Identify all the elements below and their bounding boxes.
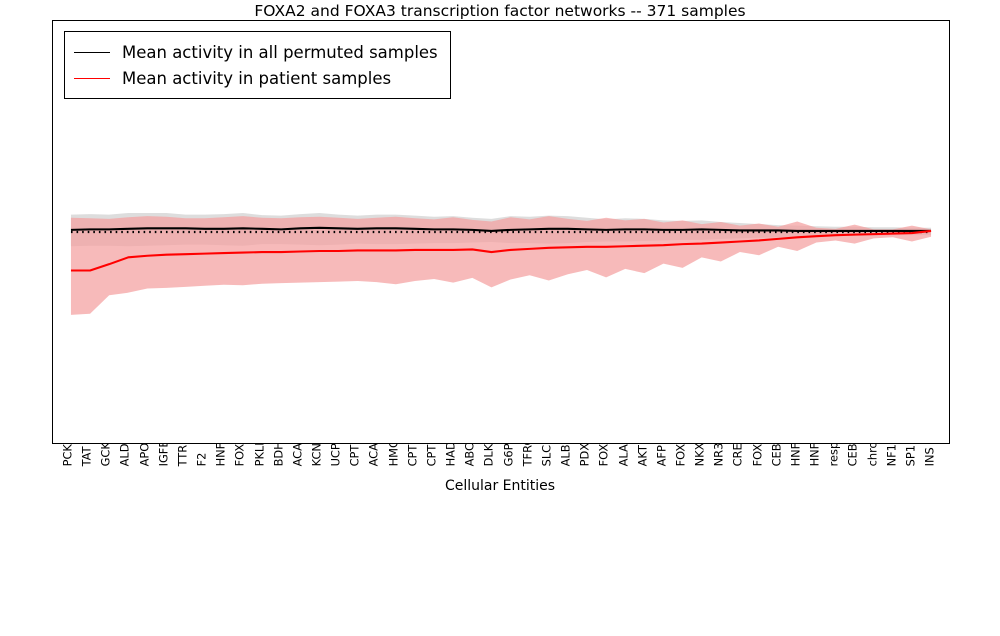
figure-canvas: FOXA2 and FOXA3 transcription factor net… (0, 0, 1000, 500)
x-tick-label: NF1 (886, 444, 897, 466)
legend-item[interactable]: Mean activity in all permuted samples (74, 39, 438, 65)
x-tick-label: GCK (101, 442, 112, 466)
x-axis-label: Cellular Entities (0, 478, 1000, 494)
legend-line-swatch (74, 52, 110, 53)
x-tick-label: AFP (656, 445, 667, 466)
x-tick-label: ALB (561, 444, 572, 466)
legend-item[interactable]: Mean activity in patient samples (74, 65, 438, 91)
x-tick-label: SP1 (905, 445, 916, 466)
x-tick-label: TTR (178, 444, 189, 466)
legend: Mean activity in all permuted samplesMea… (64, 31, 451, 99)
legend-label: Mean activity in patient samples (122, 69, 391, 88)
x-tick-label: F2 (197, 452, 208, 466)
x-tick-label: TAT (82, 446, 93, 466)
chart-title: FOXA2 and FOXA3 transcription factor net… (0, 2, 1000, 20)
x-tick-label: INS (925, 447, 936, 466)
legend-label: Mean activity in all permuted samples (122, 43, 438, 62)
legend-line-swatch (74, 78, 110, 79)
